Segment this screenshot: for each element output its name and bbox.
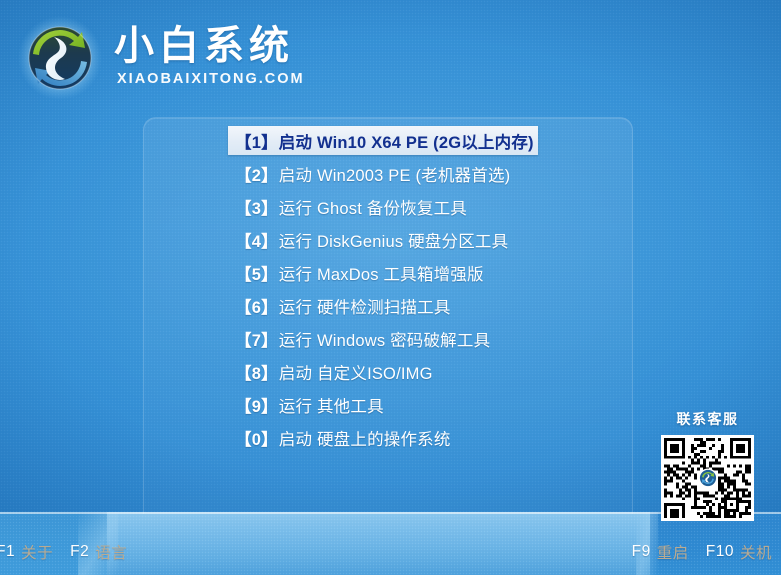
menu-item-label: 启动 自定义ISO/IMG bbox=[279, 360, 433, 384]
menu-item-label: 启动 Win10 X64 PE (2G以上内存) bbox=[279, 129, 534, 153]
refresh-globe-icon bbox=[16, 14, 104, 102]
menu-item-label: 运行 硬件检测扫描工具 bbox=[279, 294, 451, 318]
menu-item-1[interactable]: 【1】启动 Win10 X64 PE (2G以上内存) bbox=[228, 126, 538, 155]
menu-item-index: 【0】 bbox=[235, 426, 278, 450]
brand-name: 小白系统 bbox=[114, 25, 305, 67]
menu-item-label: 运行 Windows 密码破解工具 bbox=[279, 327, 491, 351]
menu-item-label: 运行 Ghost 备份恢复工具 bbox=[279, 195, 467, 219]
brand-domain: XIAOBAIXITONG.COM bbox=[117, 71, 305, 87]
function-key-f10[interactable]: F10 bbox=[706, 543, 734, 561]
menu-item-index: 【4】 bbox=[235, 228, 278, 252]
customer-support-block: 联系客服 bbox=[659, 409, 756, 521]
menu-item-index: 【7】 bbox=[235, 327, 278, 351]
function-key-label-f1[interactable]: 关于 bbox=[21, 541, 53, 563]
menu-item-index: 【9】 bbox=[235, 393, 278, 417]
function-key-f1[interactable]: F1 bbox=[0, 543, 15, 561]
brand-text-block: 小白系统 XIAOBAIXITONG.COM bbox=[114, 25, 305, 91]
function-key-f2[interactable]: F2 bbox=[70, 543, 89, 561]
menu-item-3[interactable]: 【3】运行 Ghost 备份恢复工具 bbox=[228, 192, 538, 221]
qr-center-refresh-globe-icon bbox=[698, 469, 717, 488]
function-key-label-f9[interactable]: 重启 bbox=[657, 541, 689, 563]
menu-item-8[interactable]: 【8】启动 自定义ISO/IMG bbox=[228, 357, 538, 386]
menu-item-index: 【1】 bbox=[235, 129, 278, 153]
menu-item-label: 启动 Win2003 PE (老机器首选) bbox=[279, 162, 511, 186]
menu-item-index: 【8】 bbox=[235, 360, 278, 384]
function-key-label-f2[interactable]: 语言 bbox=[95, 541, 127, 563]
support-title: 联系客服 bbox=[659, 409, 756, 429]
menu-item-4[interactable]: 【4】运行 DiskGenius 硬盘分区工具 bbox=[228, 225, 538, 254]
menu-item-9[interactable]: 【9】运行 其他工具 bbox=[228, 390, 538, 419]
menu-item-10[interactable]: 【0】启动 硬盘上的操作系统 bbox=[228, 423, 538, 452]
boot-menu-screen: 小白系统 XIAOBAIXITONG.COM 【1】启动 Win10 X64 P… bbox=[0, 0, 781, 575]
status-bar-right: F9重启F10关机 bbox=[632, 541, 772, 563]
menu-item-label: 运行 其他工具 bbox=[279, 393, 384, 417]
menu-item-5[interactable]: 【5】运行 MaxDos 工具箱增强版 bbox=[228, 258, 538, 287]
brand-logo: 小白系统 XIAOBAIXITONG.COM bbox=[16, 14, 305, 102]
qr-code-icon[interactable] bbox=[661, 435, 754, 521]
menu-item-index: 【5】 bbox=[235, 261, 278, 285]
status-bar-left: F1关于F2语言 bbox=[0, 541, 127, 563]
menu-item-index: 【2】 bbox=[235, 162, 278, 186]
menu-item-index: 【6】 bbox=[235, 294, 278, 318]
menu-item-6[interactable]: 【6】运行 硬件检测扫描工具 bbox=[228, 291, 538, 320]
boot-menu-list[interactable]: 【1】启动 Win10 X64 PE (2G以上内存)【2】启动 Win2003… bbox=[228, 126, 538, 456]
function-key-label-f10[interactable]: 关机 bbox=[740, 541, 772, 563]
menu-item-label: 运行 DiskGenius 硬盘分区工具 bbox=[279, 228, 509, 252]
menu-item-7[interactable]: 【7】运行 Windows 密码破解工具 bbox=[228, 324, 538, 353]
menu-item-label: 启动 硬盘上的操作系统 bbox=[279, 426, 451, 450]
menu-item-index: 【3】 bbox=[235, 195, 278, 219]
menu-item-label: 运行 MaxDos 工具箱增强版 bbox=[279, 261, 484, 285]
function-key-f9[interactable]: F9 bbox=[632, 543, 651, 561]
menu-item-2[interactable]: 【2】启动 Win2003 PE (老机器首选) bbox=[228, 159, 538, 188]
